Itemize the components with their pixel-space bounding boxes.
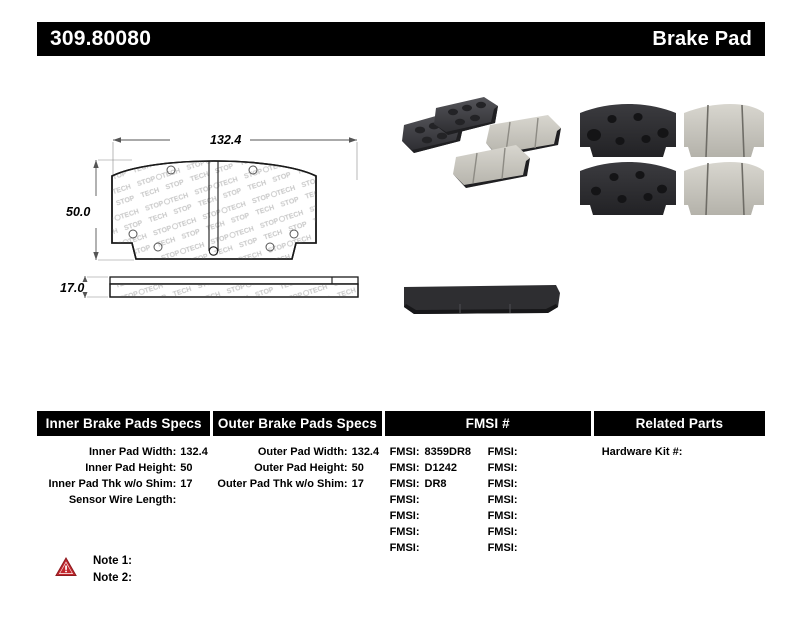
fmsi-row: FMSI:: [488, 444, 586, 460]
fmsi-label: FMSI:: [390, 444, 420, 460]
spec-value: 132.4: [352, 444, 382, 460]
fmsi-label: FMSI:: [390, 508, 420, 524]
spec-value: [180, 492, 210, 508]
photo-pad-flat-light-a: [684, 104, 764, 157]
spec-label: Inner Pad Height:: [85, 460, 176, 476]
fmsi-value: DR8: [425, 476, 447, 492]
spec-label: Inner Pad Thk w/o Shim:: [49, 476, 177, 492]
spec-table-header-row: Inner Brake Pads Specs Outer Brake Pads …: [37, 411, 765, 436]
related-part-label: Hardware Kit #:: [602, 446, 683, 458]
pad-side-view: [108, 277, 360, 298]
spec-row: Outer Pad Height: 50: [213, 460, 381, 476]
related-parts-list: Hardware Kit #:: [594, 444, 765, 556]
spec-row: Outer Pad Thk w/o Shim: 17: [213, 476, 381, 492]
fmsi-row: FMSI:: [488, 476, 586, 492]
spec-row: Inner Pad Height: 50: [37, 460, 210, 476]
spec-label: Outer Pad Height:: [254, 460, 348, 476]
spec-value: 50: [352, 460, 382, 476]
product-photo: [398, 95, 768, 335]
photo-group-right: [580, 104, 764, 215]
fmsi-label: FMSI:: [390, 460, 420, 476]
spec-value: 132.4: [180, 444, 210, 460]
spec-label: Outer Pad Thk w/o Shim:: [217, 476, 347, 492]
related-part-row: Hardware Kit #:: [602, 444, 765, 460]
spec-value: 17: [180, 476, 210, 492]
fmsi-row: FMSI:: [390, 524, 488, 540]
fmsi-label: FMSI:: [488, 476, 518, 492]
fmsi-row: FMSI: DR8: [390, 476, 488, 492]
fmsi-label: FMSI:: [488, 540, 518, 556]
fmsi-label: FMSI:: [390, 540, 420, 556]
spec-row: Inner Pad Width: 132.4: [37, 444, 210, 460]
spec-row: Outer Pad Width: 132.4: [213, 444, 381, 460]
note-line-2: Note 2:: [93, 570, 132, 587]
fmsi-row: FMSI:: [488, 460, 586, 476]
page-title: Brake Pad: [652, 28, 752, 51]
fmsi-label: FMSI:: [390, 492, 420, 508]
fmsi-value: D1242: [425, 460, 457, 476]
fmsi-row: FMSI:: [488, 524, 586, 540]
spec-row: Inner Pad Thk w/o Shim: 17: [37, 476, 210, 492]
spec-row: Sensor Wire Length:: [37, 492, 210, 508]
thickness-dimension-label: 17.0: [60, 281, 84, 295]
spec-table-body-row: Inner Pad Width: 132.4 Inner Pad Height:…: [37, 436, 765, 556]
warning-triangle-icon: [55, 556, 77, 578]
note-line-1: Note 1:: [93, 553, 132, 570]
fmsi-label: FMSI:: [390, 476, 420, 492]
fmsi-label: FMSI:: [390, 524, 420, 540]
notes-section: Note 1: Note 2:: [55, 553, 132, 587]
photo-pad-dark-b: [434, 97, 498, 135]
part-number: 309.80080: [50, 27, 151, 51]
column-header-related-parts: Related Parts: [594, 411, 765, 436]
fmsi-list: FMSI: 8359DR8 FMSI: D1242 FMSI: DR8 FMSI…: [385, 444, 591, 556]
spec-label: Sensor Wire Length:: [69, 492, 176, 508]
column-header-inner-specs: Inner Brake Pads Specs: [37, 411, 210, 436]
spec-label: Outer Pad Width:: [258, 444, 348, 460]
fmsi-row: FMSI:: [390, 508, 488, 524]
fmsi-row: FMSI:: [488, 540, 586, 556]
photo-pad-flat-dark-b: [580, 162, 676, 215]
fmsi-row: FMSI: D1242: [390, 460, 488, 476]
fmsi-value: 8359DR8: [425, 444, 471, 460]
photo-pad-light-b: [453, 145, 530, 188]
photo-pad-flat-dark-a: [580, 104, 676, 157]
fmsi-row: FMSI:: [390, 492, 488, 508]
column-header-outer-specs: Outer Brake Pads Specs: [213, 411, 381, 436]
photo-group-left: [402, 97, 561, 188]
spec-table: Inner Brake Pads Specs Outer Brake Pads …: [37, 411, 765, 556]
fmsi-label: FMSI:: [488, 508, 518, 524]
fmsi-label: FMSI:: [488, 444, 518, 460]
technical-drawing: STOP TECH TECH STOP 132.4: [60, 118, 390, 318]
fmsi-row: FMSI:: [390, 540, 488, 556]
fmsi-row: FMSI:: [488, 492, 586, 508]
pad-face-view: [100, 148, 340, 273]
spec-value: 50: [180, 460, 210, 476]
header-bar: 309.80080 Brake Pad: [37, 22, 765, 56]
fmsi-row: FMSI: 8359DR8: [390, 444, 488, 460]
spec-value: 17: [352, 476, 382, 492]
width-dimension-label: 132.4: [210, 133, 241, 147]
fmsi-row: FMSI:: [488, 508, 586, 524]
outer-specs-list: Outer Pad Width: 132.4 Outer Pad Height:…: [213, 444, 381, 556]
photo-pad-side-view: [404, 285, 560, 314]
photo-pad-flat-light-b: [684, 162, 764, 215]
spec-label: Inner Pad Width:: [89, 444, 176, 460]
dimension-thickness: [83, 276, 109, 298]
fmsi-label: FMSI:: [488, 492, 518, 508]
column-header-fmsi: FMSI #: [385, 411, 591, 436]
inner-specs-list: Inner Pad Width: 132.4 Inner Pad Height:…: [37, 444, 210, 556]
fmsi-column-left: FMSI: 8359DR8 FMSI: D1242 FMSI: DR8 FMSI…: [390, 444, 488, 556]
height-dimension-label: 50.0: [66, 205, 90, 219]
fmsi-label: FMSI:: [488, 524, 518, 540]
fmsi-label: FMSI:: [488, 460, 518, 476]
fmsi-column-right: FMSI: FMSI: FMSI: FMSI:: [488, 444, 586, 556]
